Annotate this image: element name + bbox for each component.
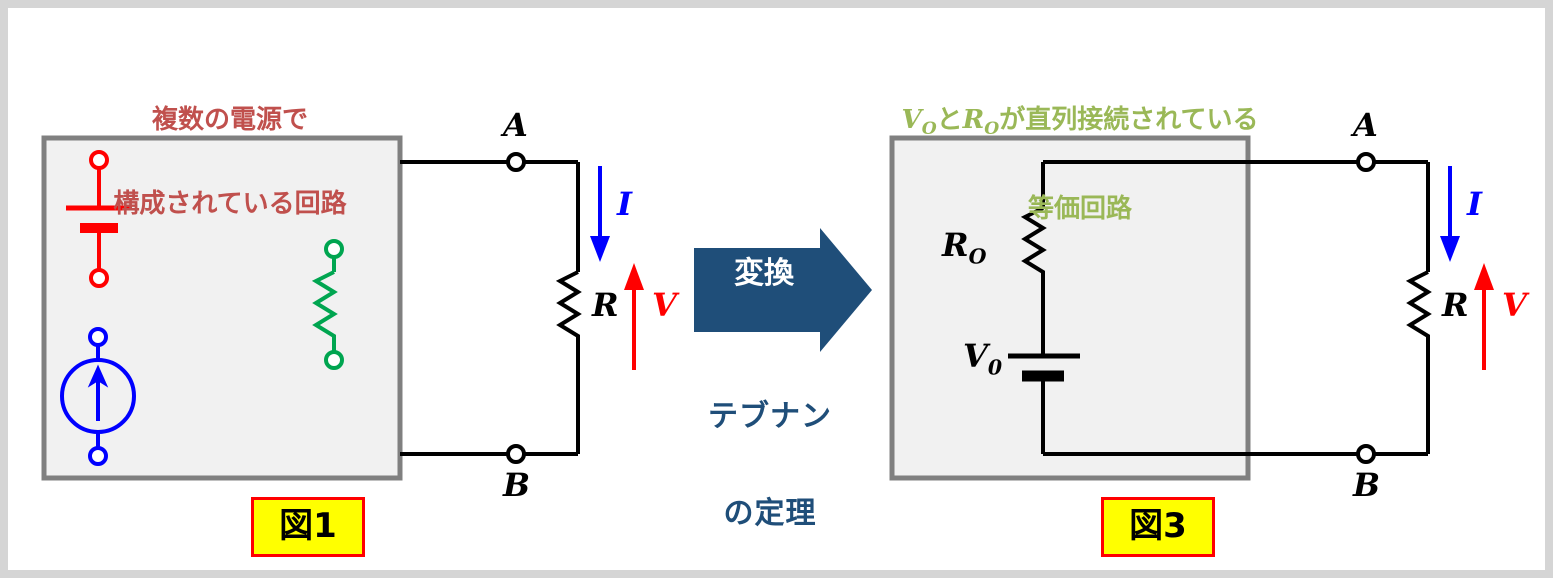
right-title-line-2: 等価回路: [790, 195, 1370, 223]
label-current-right: I: [1467, 187, 1482, 222]
theorem-line-2: の定理: [670, 498, 870, 530]
conversion-arrow-label: 変換: [689, 258, 839, 290]
voltage-arrow-left: [624, 263, 644, 370]
figure-label-1: 図1: [251, 497, 365, 557]
terminal-a-left: [508, 154, 524, 170]
label-terminal-a-right: A: [1353, 108, 1378, 143]
label-current-left: I: [617, 187, 632, 222]
current-arrow-left: [590, 166, 610, 262]
voltage-arrow-right: [1474, 263, 1494, 370]
label-load-resistor-right: R: [1442, 288, 1469, 323]
theorem-caption: テブナン の定理: [670, 336, 870, 578]
label-terminal-b-right: B: [1353, 468, 1380, 503]
right-title-line-1: VOとROが直列接続されている: [790, 106, 1370, 139]
label-source-resistance: RO: [942, 228, 986, 268]
left-load-network: [400, 162, 578, 454]
terminal-b-left: [508, 446, 524, 462]
theorem-line-1: テブナン: [670, 401, 870, 433]
label-voltage-right: V: [1502, 288, 1527, 323]
left-title-line-2: 構成されている回路: [60, 190, 400, 218]
right-title-conjunction: と: [937, 105, 963, 135]
left-title-line-1: 複数の電源で: [60, 106, 400, 134]
terminal-b-right: [1358, 446, 1374, 462]
figure-label-3: 図3: [1101, 497, 1215, 557]
label-load-resistor-left: R: [592, 288, 619, 323]
label-voltage-left: V: [652, 288, 677, 323]
current-arrow-right: [1440, 166, 1460, 262]
right-title-v-symbol: VO: [902, 105, 937, 135]
figure-canvas: 複数の電源で 構成されている回路 VOとROが直列接続されている 等価回路 変換…: [0, 0, 1553, 578]
right-panel-title: VOとROが直列接続されている 等価回路: [790, 50, 1370, 279]
label-source-voltage: V0: [963, 339, 1002, 379]
right-title-tail: が直列接続されている: [999, 105, 1258, 135]
label-terminal-b-left: B: [503, 468, 530, 503]
right-title-r-symbol: RO: [963, 105, 1000, 135]
label-terminal-a-left: A: [503, 108, 528, 143]
left-panel-title: 複数の電源で 構成されている回路: [60, 50, 400, 275]
